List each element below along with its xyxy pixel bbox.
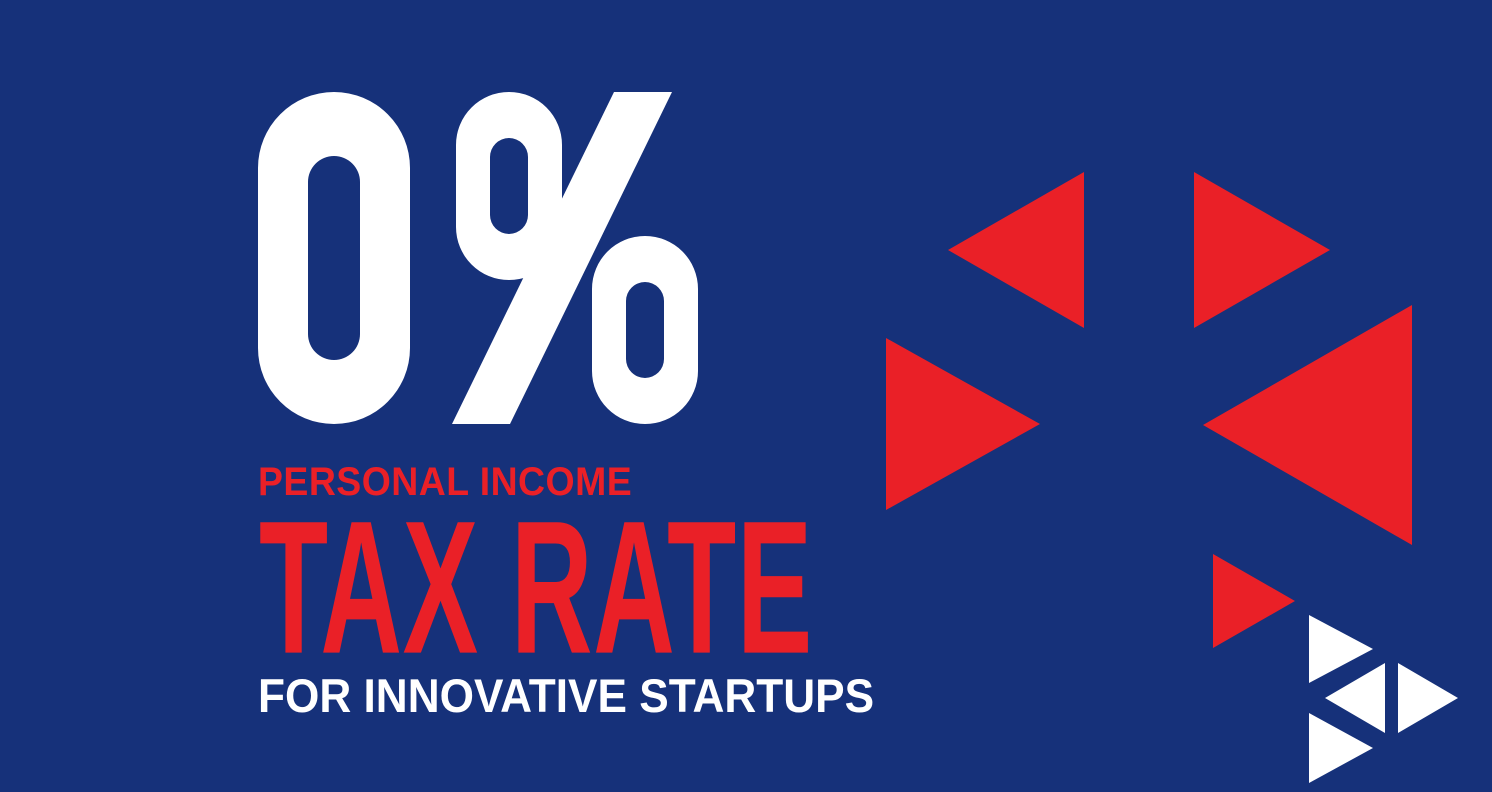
triangle-right-pointing-white-top [1309, 615, 1373, 683]
zero-glyph-large [258, 92, 410, 424]
triangle-left-pointing-white-middle [1325, 663, 1385, 733]
headline-zero-percent [258, 92, 698, 432]
headline-text-column: PERSONAL INCOME TAX RATE FOR INNOVATIVE … [258, 0, 1058, 792]
triangle-right-pointing-top-right [1194, 172, 1330, 328]
poster-canvas: PERSONAL INCOME TAX RATE FOR INNOVATIVE … [0, 0, 1492, 792]
triangle-left-pointing-large [1203, 305, 1412, 545]
triangle-right-pointing-white-bottom [1309, 713, 1373, 783]
headline-tax-rate: TAX RATE [259, 492, 813, 682]
tagline-for-innovative-startups: FOR INNOVATIVE STARTUPS [258, 672, 874, 719]
triangle-right-pointing-white-right [1398, 663, 1458, 733]
zero-glyph-lower [592, 236, 698, 424]
triangle-right-pointing-small [1213, 554, 1295, 648]
